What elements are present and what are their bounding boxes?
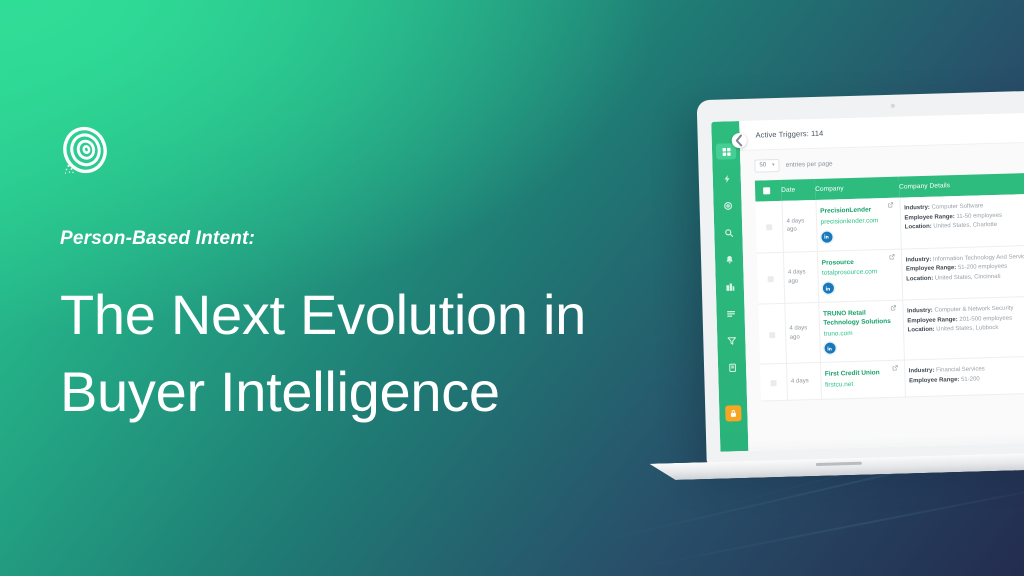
detail-key: Employee Range:: [909, 377, 960, 384]
company-details-cell: Industry: Information Technology And Ser…: [901, 244, 1024, 300]
list-icon: [726, 309, 735, 318]
scroll-fade: [748, 432, 1024, 451]
detail-value: United States, Lubbock: [936, 325, 998, 333]
sidebar-item-alerts[interactable]: [720, 252, 738, 267]
linkedin-icon[interactable]: [822, 283, 833, 294]
entries-per-page-label: entries per page: [786, 160, 833, 168]
company-details-cell: Industry: Financial ServicesEmployee Ran…: [904, 356, 1024, 397]
app-screen: Active Triggers: 114 50 ▾ entries per pa…: [711, 112, 1024, 452]
detail-value: United States, Cincinnati: [935, 274, 1001, 282]
company-cell: PrecisionLenderprecisionlender.com: [815, 198, 900, 251]
spiral-target-logo: [60, 126, 110, 178]
detail-value: Financial Services: [936, 367, 985, 374]
detail-value: 51-200 employees: [958, 264, 1008, 271]
lock-icon: [729, 409, 737, 417]
linkedin-icon[interactable]: [821, 231, 832, 242]
bolt-icon: [722, 174, 731, 183]
laptop-mockup: Active Triggers: 114 50 ▾ entries per pa…: [631, 90, 1024, 492]
sidebar-collapse-button[interactable]: [732, 133, 747, 148]
detail-key: Industry:: [904, 205, 930, 212]
company-url[interactable]: totalprosource.com: [822, 267, 897, 279]
detail-key: Location:: [908, 327, 935, 334]
column-date[interactable]: Date: [781, 179, 816, 201]
sidebar-item-companies[interactable]: [721, 279, 739, 294]
detail-key: Industry:: [906, 256, 932, 263]
row-checkbox[interactable]: [766, 224, 772, 230]
external-link-icon[interactable]: [892, 365, 898, 371]
detail-key: Industry:: [909, 368, 935, 375]
sidebar-item-locked-feature[interactable]: [725, 405, 741, 421]
row-date: 4 days: [791, 377, 816, 386]
search-icon: [724, 228, 733, 237]
company-cell: First Credit Unionfirstcu.net: [820, 360, 905, 399]
company-url[interactable]: truno.com: [824, 327, 899, 339]
external-link-icon[interactable]: [890, 305, 896, 311]
page-title: The Next Evolution in Buyer Intelligence: [60, 276, 660, 431]
chevron-down-icon: ▾: [772, 162, 775, 168]
active-triggers-count: Active Triggers: 114: [755, 129, 823, 140]
detail-value: 11-50 employees: [956, 212, 1002, 219]
laptop-lid: Active Triggers: 114 50 ▾ entries per pa…: [697, 90, 1024, 464]
external-link-icon[interactable]: [888, 253, 894, 259]
detail-value: Information Technology And Services: [933, 253, 1024, 262]
column-select-all[interactable]: [755, 180, 782, 202]
select-all-checkbox[interactable]: [763, 187, 770, 194]
row-date: 4 days ago: [786, 217, 811, 235]
row-checkbox[interactable]: [770, 380, 776, 386]
row-select-cell[interactable]: [757, 252, 784, 304]
company-cell: Prosourcetotalprosource.com: [817, 249, 902, 303]
company-name[interactable]: TRUNO Retail Technology Solutions: [823, 309, 898, 329]
sidebar-item-lists[interactable]: [721, 306, 739, 321]
column-company[interactable]: Company: [815, 177, 900, 200]
triggers-table-wrapper: Date Company Company Details 4 days agoP…: [741, 172, 1024, 402]
date-cell: 4 days: [786, 363, 821, 400]
triggers-table: Date Company Company Details 4 days agoP…: [755, 172, 1024, 401]
detail-key: Location:: [906, 276, 933, 283]
company-details-cell: Industry: Computer & Network SecurityEmp…: [902, 296, 1024, 361]
bell-icon: [724, 255, 733, 264]
sidebar-item-search[interactable]: [719, 225, 737, 240]
table-row[interactable]: 4 days agoTRUNO Retail Technology Soluti…: [758, 296, 1024, 365]
sidebar-item-intent[interactable]: [718, 198, 736, 213]
sidebar-item-filters[interactable]: [722, 333, 740, 348]
row-select-cell[interactable]: [758, 303, 786, 364]
detail-value: United States, Charlotte: [933, 222, 997, 230]
detail-value: 51-200: [961, 376, 980, 383]
detail-key: Industry:: [907, 308, 933, 315]
company-details-cell: Industry: Computer SoftwareEmployee Rang…: [899, 193, 1024, 249]
entries-per-page-select[interactable]: 50 ▾: [754, 158, 780, 172]
hero-eyebrow: Person-Based Intent:: [60, 228, 660, 250]
app-main: Active Triggers: 114 50 ▾ entries per pa…: [739, 112, 1024, 451]
sidebar-item-triggers[interactable]: [718, 171, 736, 186]
table-row[interactable]: 4 days agoProsourcetotalprosource.comInd…: [757, 244, 1024, 304]
table-row[interactable]: 4 daysFirst Credit Unionfirstcu.netIndus…: [760, 356, 1024, 401]
detail-value: Computer & Network Security: [934, 306, 1013, 314]
row-date: 4 days ago: [788, 268, 813, 286]
company-url[interactable]: firstcu.net: [825, 379, 900, 391]
row-checkbox[interactable]: [767, 276, 773, 282]
detail-value: 201-500 employees: [959, 315, 1012, 322]
detail-key: Employee Range:: [904, 214, 955, 221]
row-select-cell[interactable]: [760, 364, 787, 401]
company-url[interactable]: precisionlender.com: [820, 215, 895, 227]
entries-per-page-value: 50: [759, 162, 766, 168]
detail-key: Employee Range:: [907, 317, 958, 324]
external-link-icon[interactable]: [887, 202, 893, 208]
funnel-icon: [727, 336, 736, 345]
detail-key: Employee Range:: [906, 265, 957, 272]
book-icon: [727, 363, 736, 372]
linkedin-icon[interactable]: [824, 343, 835, 354]
date-cell: 4 days ago: [781, 200, 816, 252]
target-icon: [723, 201, 732, 210]
webcam-dot: [891, 104, 895, 108]
sidebar-item-reports[interactable]: [723, 360, 741, 375]
row-checkbox[interactable]: [769, 332, 775, 338]
promo-banner: Person-Based Intent: The Next Evolution …: [0, 0, 1024, 576]
company-cell: TRUNO Retail Technology Solutionstruno.c…: [818, 300, 904, 363]
date-cell: 4 days ago: [784, 302, 820, 363]
row-select-cell[interactable]: [755, 201, 782, 253]
detail-value: Computer Software: [931, 203, 983, 210]
dashboard-grid-icon: [721, 147, 730, 156]
hero-block: Person-Based Intent: The Next Evolution …: [60, 126, 660, 431]
date-cell: 4 days ago: [783, 251, 818, 303]
table-body: 4 days agoPrecisionLenderprecisionlender…: [755, 193, 1024, 401]
chevron-left-icon: [732, 133, 747, 148]
detail-key: Location:: [905, 224, 932, 231]
table-row[interactable]: 4 days agoPrecisionLenderprecisionlender…: [755, 193, 1024, 253]
row-date: 4 days ago: [789, 324, 814, 342]
building-icon: [725, 282, 734, 291]
